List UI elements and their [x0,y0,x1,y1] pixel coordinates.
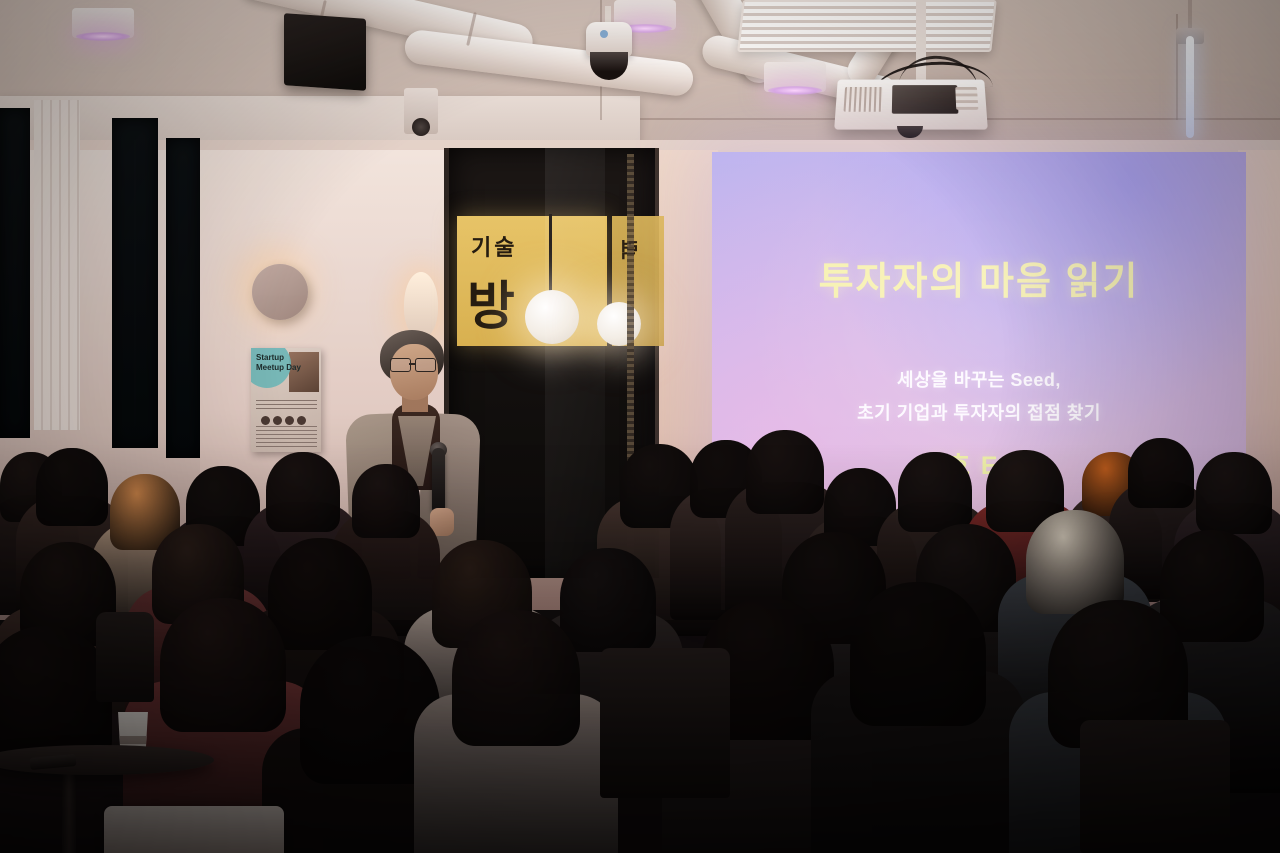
audience-member-head [352,464,420,538]
audience-member-head [1196,452,1272,534]
presenter-head [390,344,438,400]
presentation-scene: Startup Meetup Day 기술 방 력 투자자의 마음 읽기 세상을… [0,0,1280,853]
window [166,138,200,458]
audience-member-head [560,548,656,652]
window-blind [34,100,80,430]
audience-member-head [268,538,372,650]
slide-subtitle: 세상을 바꾸는 Seed, 초기 기업과 투자자의 접점 찾기 [712,364,1246,430]
startup-meetup-poster: Startup Meetup Day [251,348,321,452]
audience-member-head [898,452,972,532]
window [112,118,158,448]
slide-subtitle-line2: 초기 기업과 투자자의 접점 찾기 [712,397,1246,430]
audience-member-head [1160,530,1264,642]
sign-text-line2: 방 [467,264,517,339]
audience-member-head [1128,438,1194,508]
hvac-vent [737,0,996,52]
poster-footer-text [256,426,317,448]
poster-avatars [261,416,306,425]
audience-member-head [160,598,286,732]
audience-member-head [266,452,340,532]
glass-reflection [545,148,605,578]
projector-vent [844,87,883,112]
poster-text-block [256,400,317,412]
ceiling-downlight [72,8,134,38]
audience-member-head [452,610,580,746]
audience-member-head [850,582,986,726]
projector-ports [892,85,959,114]
tube-pendant-light [1186,36,1194,138]
wall-sconce [404,272,438,338]
chair [1080,720,1230,853]
ceiling-projector [834,80,988,130]
chair [600,648,730,798]
pa-speaker [284,13,366,91]
chair [96,612,154,702]
poster-title: Startup Meetup Day [256,353,312,373]
audience-member-head [1026,510,1124,614]
table-leg [62,768,76,853]
dome-camera-body [586,22,632,56]
glasses-icon [390,358,440,370]
audience-member-head [36,448,108,526]
slide-subtitle-line1: 세상을 바꾸는 Seed, [712,364,1246,397]
audience-member-head [746,430,824,514]
slide-title: 투자자의 마음 읽기 [712,250,1246,305]
sign-text-line1: 기술 [471,230,517,262]
pendant-rod [1188,0,1192,30]
microphone [432,448,445,514]
low-table [104,806,284,853]
projector-knobs [955,87,978,110]
coffee-cup-band [120,736,146,744]
window [0,108,30,438]
wall-camera-mount [404,88,438,134]
disc-wall-sconce [252,264,308,320]
ceiling-downlight [764,62,826,92]
camera-indicator [600,30,608,38]
